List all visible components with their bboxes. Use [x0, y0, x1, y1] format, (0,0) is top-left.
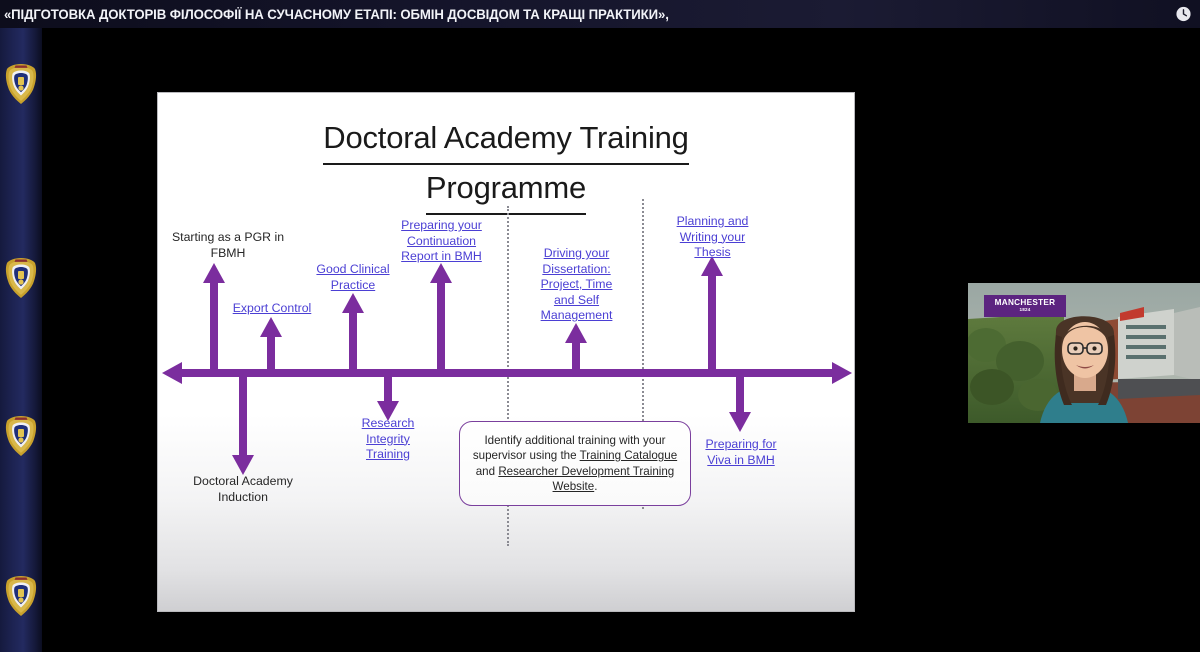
window-title-bar: «ПІДГОТОВКА ДОКТОРІВ ФІЛОСОФІЇ НА СУЧАСН… — [0, 0, 1200, 28]
label-export-control[interactable]: Export Control — [222, 301, 322, 317]
label-starting-as-pgr: Starting as a PGR in FBMH — [157, 230, 308, 261]
label-preparing-continuation-report[interactable]: Preparing your Continuation Report in BM… — [389, 218, 494, 265]
timeline-diagram — [158, 93, 855, 612]
label-good-clinical-practice[interactable]: Good Clinical Practice — [310, 262, 396, 293]
decorative-sidebar — [0, 28, 42, 652]
label-line: Research Integrity Training — [347, 416, 429, 463]
university-crest-icon — [3, 62, 39, 106]
callout-link-training-catalogue[interactable]: Training Catalogue — [580, 449, 678, 462]
label-line: Starting as a PGR in FBMH — [157, 230, 308, 261]
university-crest-icon — [3, 256, 39, 300]
label-driving-your-dissertation[interactable]: Driving your Dissertation: Project, Time… — [531, 246, 622, 324]
label-line: Doctoral Academy Induction — [169, 474, 317, 505]
label-preparing-for-viva[interactable]: Preparing for Viva in BMH — [696, 437, 786, 468]
university-crest-icon — [3, 574, 39, 618]
label-doctoral-academy-induction: Doctoral Academy Induction — [169, 474, 317, 505]
screen-root: «ПІДГОТОВКА ДОКТОРІВ ФІЛОСОФІЇ НА СУЧАСН… — [0, 0, 1200, 652]
clock-icon — [1175, 6, 1192, 23]
callout-text: Identify additional training with your s… — [469, 433, 681, 495]
presenter-video-tile[interactable]: MANCHESTER 1824 — [968, 283, 1200, 423]
label-line: Planning and Writing your Thesis — [667, 214, 758, 261]
sidebar-shadow — [42, 28, 56, 652]
label-line: Export Control — [222, 301, 322, 317]
label-line: Preparing for Viva in BMH — [696, 437, 786, 468]
manchester-logo-line-2: 1824 — [1019, 308, 1030, 313]
callout-part-3: . — [594, 480, 597, 493]
university-crest-icon — [3, 414, 39, 458]
callout-part-2: and — [476, 465, 499, 478]
manchester-logo-line-1: MANCHESTER — [995, 299, 1056, 307]
callout-link-researcher-development[interactable]: Researcher Development Training Website — [498, 465, 674, 494]
additional-training-callout: Identify additional training with your s… — [459, 421, 691, 506]
presentation-slide: Doctoral Academy Training Programme — [157, 92, 855, 612]
label-planning-writing-thesis[interactable]: Planning and Writing your Thesis — [667, 214, 758, 261]
label-line: Driving your Dissertation: Project, Time… — [531, 246, 622, 324]
label-research-integrity-training[interactable]: Research Integrity Training — [347, 416, 429, 463]
label-line: Preparing your Continuation Report in BM… — [389, 218, 494, 265]
label-line: Good Clinical Practice — [310, 262, 396, 293]
window-title-text: «ПІДГОТОВКА ДОКТОРІВ ФІЛОСОФІЇ НА СУЧАСН… — [0, 7, 669, 22]
manchester-logo: MANCHESTER 1824 — [984, 295, 1066, 317]
